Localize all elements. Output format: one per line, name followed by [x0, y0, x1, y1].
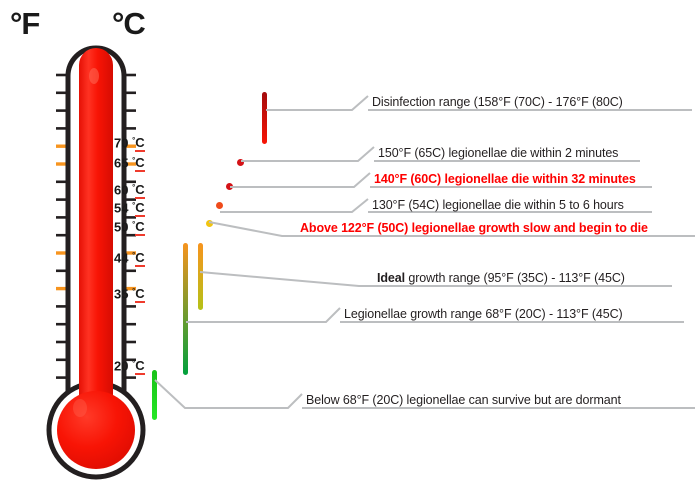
leader-line-growth-slow-begin-die — [209, 222, 296, 236]
temp-label-20c: 20 °C — [114, 359, 145, 372]
temp-label-50c: 50 °C — [114, 220, 145, 233]
annotation-body: growth range (95°F (35C) - 113°F (45C) — [405, 271, 625, 285]
degree-symbol-icon: ° — [132, 251, 135, 260]
temp-value: 35 — [114, 286, 132, 301]
temp-unit: C — [135, 155, 144, 172]
degree-symbol-icon: ° — [132, 359, 135, 368]
degree-symbol-icon: ° — [132, 201, 135, 210]
degree-symbol-icon: ° — [132, 287, 135, 296]
annotation-dormant-below-68: Below 68°F (20C) legionellae can survive… — [306, 394, 621, 407]
temp-unit: C — [135, 200, 144, 217]
annotation-die-within-5-6-hours: 130°F (54C) legionellae die within 5 to … — [372, 199, 624, 212]
temp-value: 70 — [114, 135, 132, 150]
die-32-minutes-dot — [226, 183, 233, 190]
temp-unit: C — [135, 182, 144, 199]
temp-label-60c: 60 °C — [114, 183, 145, 196]
temp-unit: C — [135, 135, 144, 152]
die-5-6-hours-dot — [216, 202, 223, 209]
degree-symbol-icon: ° — [132, 136, 135, 145]
annotation-die-within-2-minutes: 150°F (65C) legionellae die within 2 min… — [378, 147, 618, 160]
thermometer-mercury-column — [79, 48, 113, 418]
leader-line-disinfection-range — [266, 96, 368, 110]
temp-label-70c: 70 °C — [114, 136, 145, 149]
die-2-minutes-dot — [237, 159, 244, 166]
degree-symbol-icon: ° — [132, 156, 135, 165]
bulb-highlight — [73, 399, 87, 417]
annotation-disinfection-range: Disinfection range (158°F (70C) - 176°F … — [372, 96, 623, 109]
degree-symbol-icon: ° — [132, 183, 135, 192]
annotation-emphasis: Ideal — [377, 271, 405, 285]
temp-value: 65 — [114, 155, 132, 170]
temp-value: 50 — [114, 219, 132, 234]
growth-slow-dot — [206, 220, 213, 227]
temp-value: 54 — [114, 200, 132, 215]
temp-label-54c: 54 °C — [114, 201, 145, 214]
thermometer-graphic — [0, 0, 200, 500]
leader-line-die-within-2-minutes — [241, 147, 374, 161]
infographic-canvas: °F °C 70 ° — [0, 0, 700, 500]
ideal-growth-range-bar — [198, 243, 203, 310]
temp-unit: C — [135, 358, 144, 375]
legionellae-growth-range-bar — [183, 243, 188, 375]
annotation-ideal-growth-range: Ideal growth range (95°F (35C) - 113°F (… — [377, 272, 625, 285]
temp-unit: C — [135, 286, 144, 303]
temp-value: 60 — [114, 182, 132, 197]
temp-label-44c: 44 °C — [114, 251, 145, 264]
thermometer-bulb-fill — [57, 391, 135, 469]
leader-line-legionellae-growth-range — [186, 308, 340, 322]
leader-line-die-within-5-6-hours — [220, 199, 368, 212]
dormant-range-bar — [152, 370, 157, 420]
leader-line-ideal-growth-range — [200, 272, 373, 286]
annotation-die-within-32-minutes: 140°F (60C) legionellae die within 32 mi… — [374, 173, 636, 186]
temp-unit: C — [135, 219, 144, 236]
temp-label-65c: 65 °C — [114, 156, 145, 169]
mercury-highlight — [89, 68, 99, 84]
annotation-legionellae-growth-range: Legionellae growth range 68°F (20C) - 11… — [344, 308, 623, 321]
disinfection-range-bar — [262, 92, 267, 144]
degree-symbol-icon: ° — [132, 220, 135, 229]
annotation-growth-slow-begin-die: Above 122°F (50C) legionellae growth slo… — [300, 222, 648, 235]
temp-label-35c: 35 °C — [114, 287, 145, 300]
temp-value: 44 — [114, 250, 132, 265]
temp-unit: C — [135, 250, 144, 267]
temp-value: 20 — [114, 358, 132, 373]
leader-line-die-within-32-minutes — [230, 173, 370, 187]
